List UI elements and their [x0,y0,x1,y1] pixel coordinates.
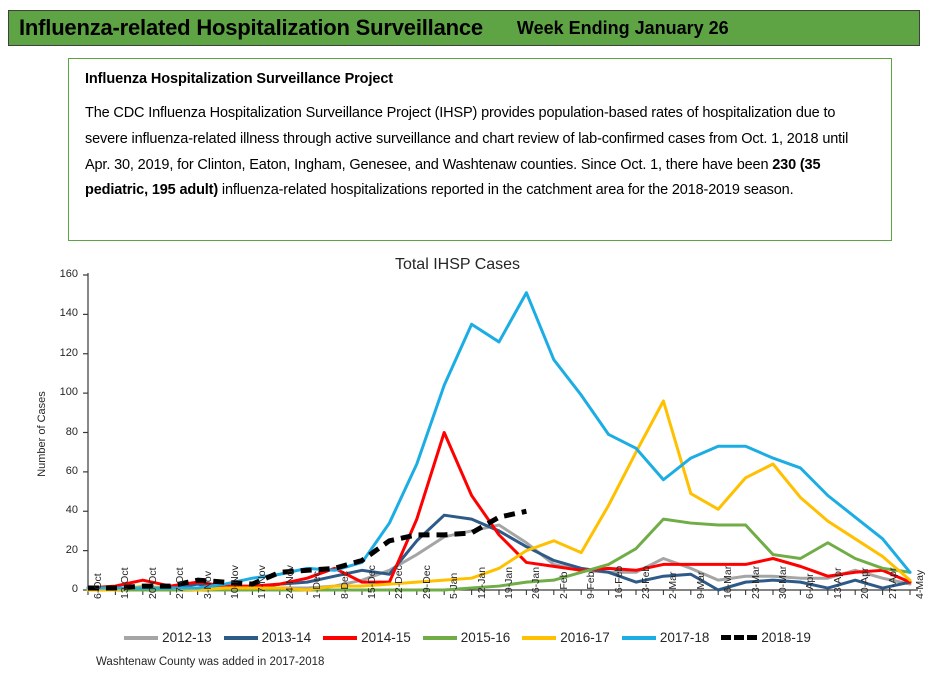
x-tick-label: 23-Mar [750,566,762,599]
x-tick-label: 16-Feb [613,566,625,599]
chart-plot-area [0,248,935,648]
x-tick-label: 8-Dec [339,571,351,599]
x-tick-label: 13-Oct [119,567,131,599]
x-tick-label: 24-Nov [284,565,296,599]
x-tick-label: 26-Jan [530,567,542,599]
legend-swatch-icon [224,636,258,640]
legend-item-2013-14[interactable]: 2013-14 [224,630,312,645]
x-tick-label: 16-Mar [722,566,734,599]
legend-swatch-icon [124,636,158,640]
ihsp-line-chart: Total IHSP Cases Number of Cases 0204060… [0,248,935,676]
x-tick-label: 6-Apr [804,573,816,599]
x-tick-label: 1-Dec [311,571,323,599]
legend-label: 2018-19 [761,630,811,645]
legend-label: 2015-16 [461,630,511,645]
x-tick-label: 5-Jan [448,573,460,599]
legend-item-2014-15[interactable]: 2014-15 [323,630,411,645]
x-tick-label: 23-Feb [640,566,652,599]
x-tick-label: 17-Nov [256,565,268,599]
chart-footnote: Washtenaw County was added in 2017-2018 [96,656,324,668]
legend-item-2017-18[interactable]: 2017-18 [622,630,710,645]
x-tick-label: 2-Mar [667,572,679,599]
x-tick-label: 30-Mar [777,566,789,599]
legend-swatch-icon [721,635,757,640]
x-tick-label: 19-Jan [503,567,515,599]
x-tick-label: 12-Jan [476,567,488,599]
info-body-part1: The CDC Influenza Hospitalization Survei… [85,105,848,173]
legend-swatch-icon [622,636,656,640]
x-tick-label: 15-Dec [366,565,378,599]
series-line-2014-15 [88,433,910,589]
x-tick-label: 27-Apr [887,567,899,599]
x-tick-label: 20-Oct [147,567,159,599]
legend-label: 2016-17 [560,630,610,645]
header-banner: Influenza-related Hospitalization Survei… [8,10,920,46]
x-tick-label: 13-Apr [832,567,844,599]
legend-swatch-icon [423,636,457,640]
page-title: Influenza-related Hospitalization Survei… [19,15,483,41]
legend-swatch-icon [522,636,556,640]
legend-label: 2014-15 [361,630,411,645]
x-tick-label: 20-Apr [859,567,871,599]
x-tick-label: 22-Dec [393,565,405,599]
legend-item-2015-16[interactable]: 2015-16 [423,630,511,645]
info-body-part2: influenza-related hospitalizations repor… [218,182,793,198]
legend-swatch-icon [323,636,357,640]
page-root: Influenza-related Hospitalization Survei… [0,0,935,676]
legend-label: 2017-18 [660,630,710,645]
x-tick-label: 2-Feb [558,572,570,599]
info-box-body: The CDC Influenza Hospitalization Survei… [85,101,875,204]
legend-item-2012-13[interactable]: 2012-13 [124,630,212,645]
legend-item-2016-17[interactable]: 2016-17 [522,630,610,645]
legend-label: 2012-13 [162,630,212,645]
chart-legend: 2012-132013-142014-152015-162016-172017-… [0,630,935,645]
legend-label: 2013-14 [262,630,312,645]
x-tick-label: 29-Dec [421,565,433,599]
x-tick-label: 9-Feb [585,572,597,599]
series-line-2017-18 [88,293,910,588]
x-tick-label: 4-May [914,570,926,599]
surveillance-info-box: Influenza Hospitalization Surveillance P… [68,58,892,241]
x-tick-label: 9-Mar [695,572,707,599]
x-tick-label: 3-Nov [202,571,214,599]
x-tick-label: 6-Oct [92,573,104,599]
week-ending-label: Week Ending January 26 [517,18,729,39]
x-tick-label: 27-Oct [174,567,186,599]
x-tick-label: 10-Nov [229,565,241,599]
legend-item-2018-19[interactable]: 2018-19 [721,630,811,645]
info-box-heading: Influenza Hospitalization Surveillance P… [85,71,875,87]
